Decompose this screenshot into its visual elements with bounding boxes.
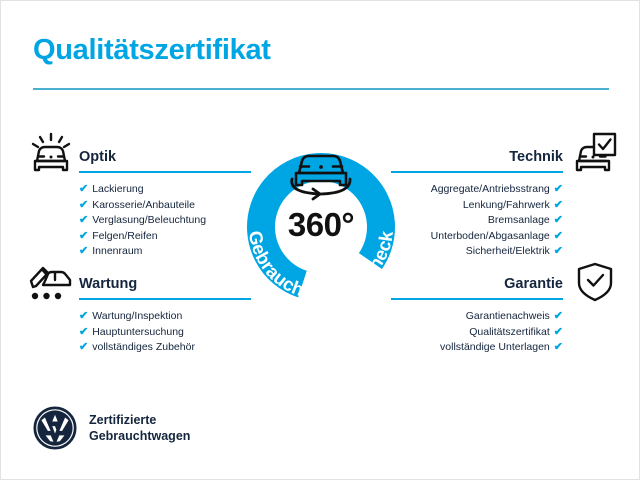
list-item-label: Innenraum (92, 245, 142, 257)
badge-center-label: 360° (288, 206, 354, 243)
list-item-label: vollständiges Zubehör (92, 341, 195, 353)
footer-line-1: Zertifizierte (89, 412, 190, 428)
list-item: ✔Wartung/Inspektion (79, 309, 251, 325)
check-icon: ✔ (554, 340, 563, 356)
page-title: Qualitätszertifikat (33, 34, 271, 67)
certificate-page: Qualitätszertifikat (0, 0, 640, 480)
list-item-label: Wartung/Inspektion (92, 310, 182, 322)
check-icon: ✔ (79, 198, 88, 214)
list-item: ✔vollständiges Zubehör (79, 340, 251, 356)
footer-brand-text: Zertifizierte Gebrauchtwagen (89, 412, 190, 444)
vw-logo (33, 406, 77, 450)
service-pen-car-icon (25, 259, 77, 305)
check-icon: ✔ (79, 244, 88, 260)
check-icon: ✔ (554, 198, 563, 214)
check-icon: ✔ (79, 229, 88, 245)
check-icon: ✔ (554, 213, 563, 229)
header-divider (33, 88, 609, 90)
list-item-label: Karosserie/Anbauteile (92, 199, 195, 211)
footer-line-2: Gebrauchtwagen (89, 428, 190, 444)
list-item-label: Hauptuntersuchung (92, 326, 184, 338)
check-icon: ✔ (554, 325, 563, 341)
check-icon: ✔ (554, 182, 563, 198)
list-item: Qualitätszertifikat✔ (391, 325, 563, 341)
list-item: ✔Hauptuntersuchung (79, 325, 251, 341)
checklist-wartung: ✔Wartung/Inspektion ✔Hauptuntersuchung ✔… (79, 309, 251, 356)
check-icon: ✔ (79, 182, 88, 198)
list-item-label: Qualitätszertifikat (469, 326, 550, 338)
check-icon: ✔ (554, 309, 563, 325)
list-item-label: Verglasung/Beleuchtung (92, 214, 206, 226)
car-front-shine-icon (25, 131, 77, 177)
checklist-garantie: Garantienachweis✔ Qualitätszertifikat✔ v… (391, 309, 563, 356)
list-item-label: Felgen/Reifen (92, 230, 157, 242)
list-item-label: Aggregate/Antriebsstrang (431, 183, 550, 195)
check-icon: ✔ (79, 340, 88, 356)
list-item-label: Lackierung (92, 183, 143, 195)
footer-brand-lockup: Zertifizierte Gebrauchtwagen (33, 406, 190, 450)
badge-360-gebrauchtwagen-check: Gebrauchtwagen-Check 360° (225, 119, 417, 311)
list-item: Garantienachweis✔ (391, 309, 563, 325)
list-item-label: Garantienachweis (466, 310, 550, 322)
list-item: vollständige Unterlagen✔ (391, 340, 563, 356)
list-item-label: vollständige Unterlagen (440, 341, 550, 353)
list-item-label: Lenkung/Fahrwerk (463, 199, 550, 211)
check-icon: ✔ (79, 309, 88, 325)
check-icon: ✔ (79, 213, 88, 229)
check-icon: ✔ (554, 229, 563, 245)
check-icon: ✔ (554, 244, 563, 260)
list-item-label: Bremsanlage (488, 214, 550, 226)
car-front-checkbox-icon (567, 131, 619, 177)
list-item-label: Sicherheit/Elektrik (466, 245, 550, 257)
check-icon: ✔ (79, 325, 88, 341)
list-item-label: Unterboden/Abgasanlage (431, 230, 550, 242)
shield-check-icon (571, 259, 623, 305)
